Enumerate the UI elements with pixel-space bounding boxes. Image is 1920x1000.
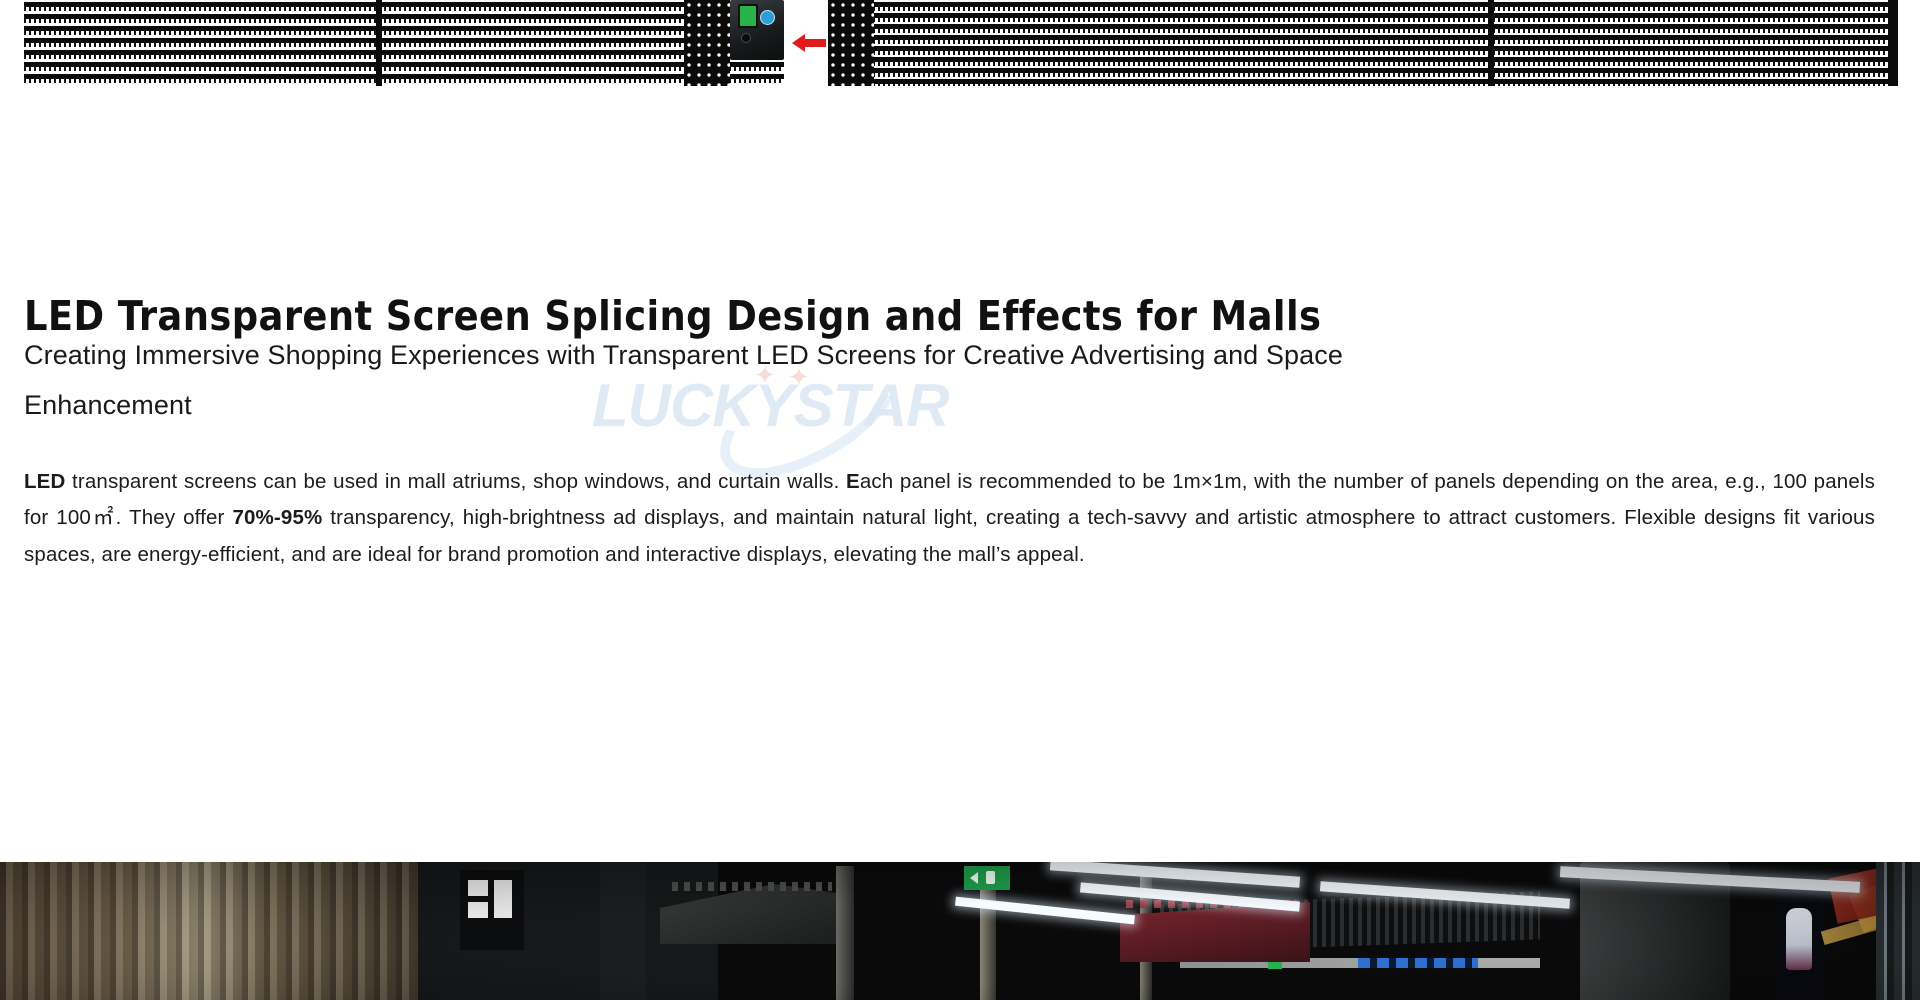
panel-edge-dots-right (828, 0, 874, 86)
panel-seam (376, 0, 382, 86)
controller-screw-hole (742, 34, 750, 42)
led-panel-strip-image (0, 0, 1920, 90)
body-text-emphasis: 70%-95% (232, 506, 322, 529)
controller-badge-icon (760, 10, 775, 25)
page-root: ✦ ✦ LUCKYSTAR LED Transparent Screen Spl… (0, 0, 1920, 1000)
led-rows-right (828, 0, 1898, 86)
body-text-emphasis: E (846, 470, 860, 493)
panel-edge-dots (684, 0, 730, 86)
led-panel-group-left (24, 0, 784, 86)
led-rows-left (24, 0, 784, 86)
red-left-arrow-icon (792, 33, 826, 53)
body-paragraph: LED transparent screens can be used in m… (24, 464, 1875, 574)
body-text-run: transparent screens can be used in mall … (65, 470, 846, 493)
led-panel-group-right (828, 0, 1898, 86)
page-subtitle: Creating Immersive Shopping Experiences … (24, 330, 1444, 430)
panel-edge-right (1888, 0, 1898, 86)
photo-vignette (0, 862, 1920, 1000)
body-text-emphasis: LED (24, 470, 65, 493)
panel-seam-right (1488, 0, 1494, 86)
panel-controller-module (730, 0, 784, 60)
mall-interior-photo (0, 862, 1920, 1000)
controller-green-connector (738, 4, 758, 28)
